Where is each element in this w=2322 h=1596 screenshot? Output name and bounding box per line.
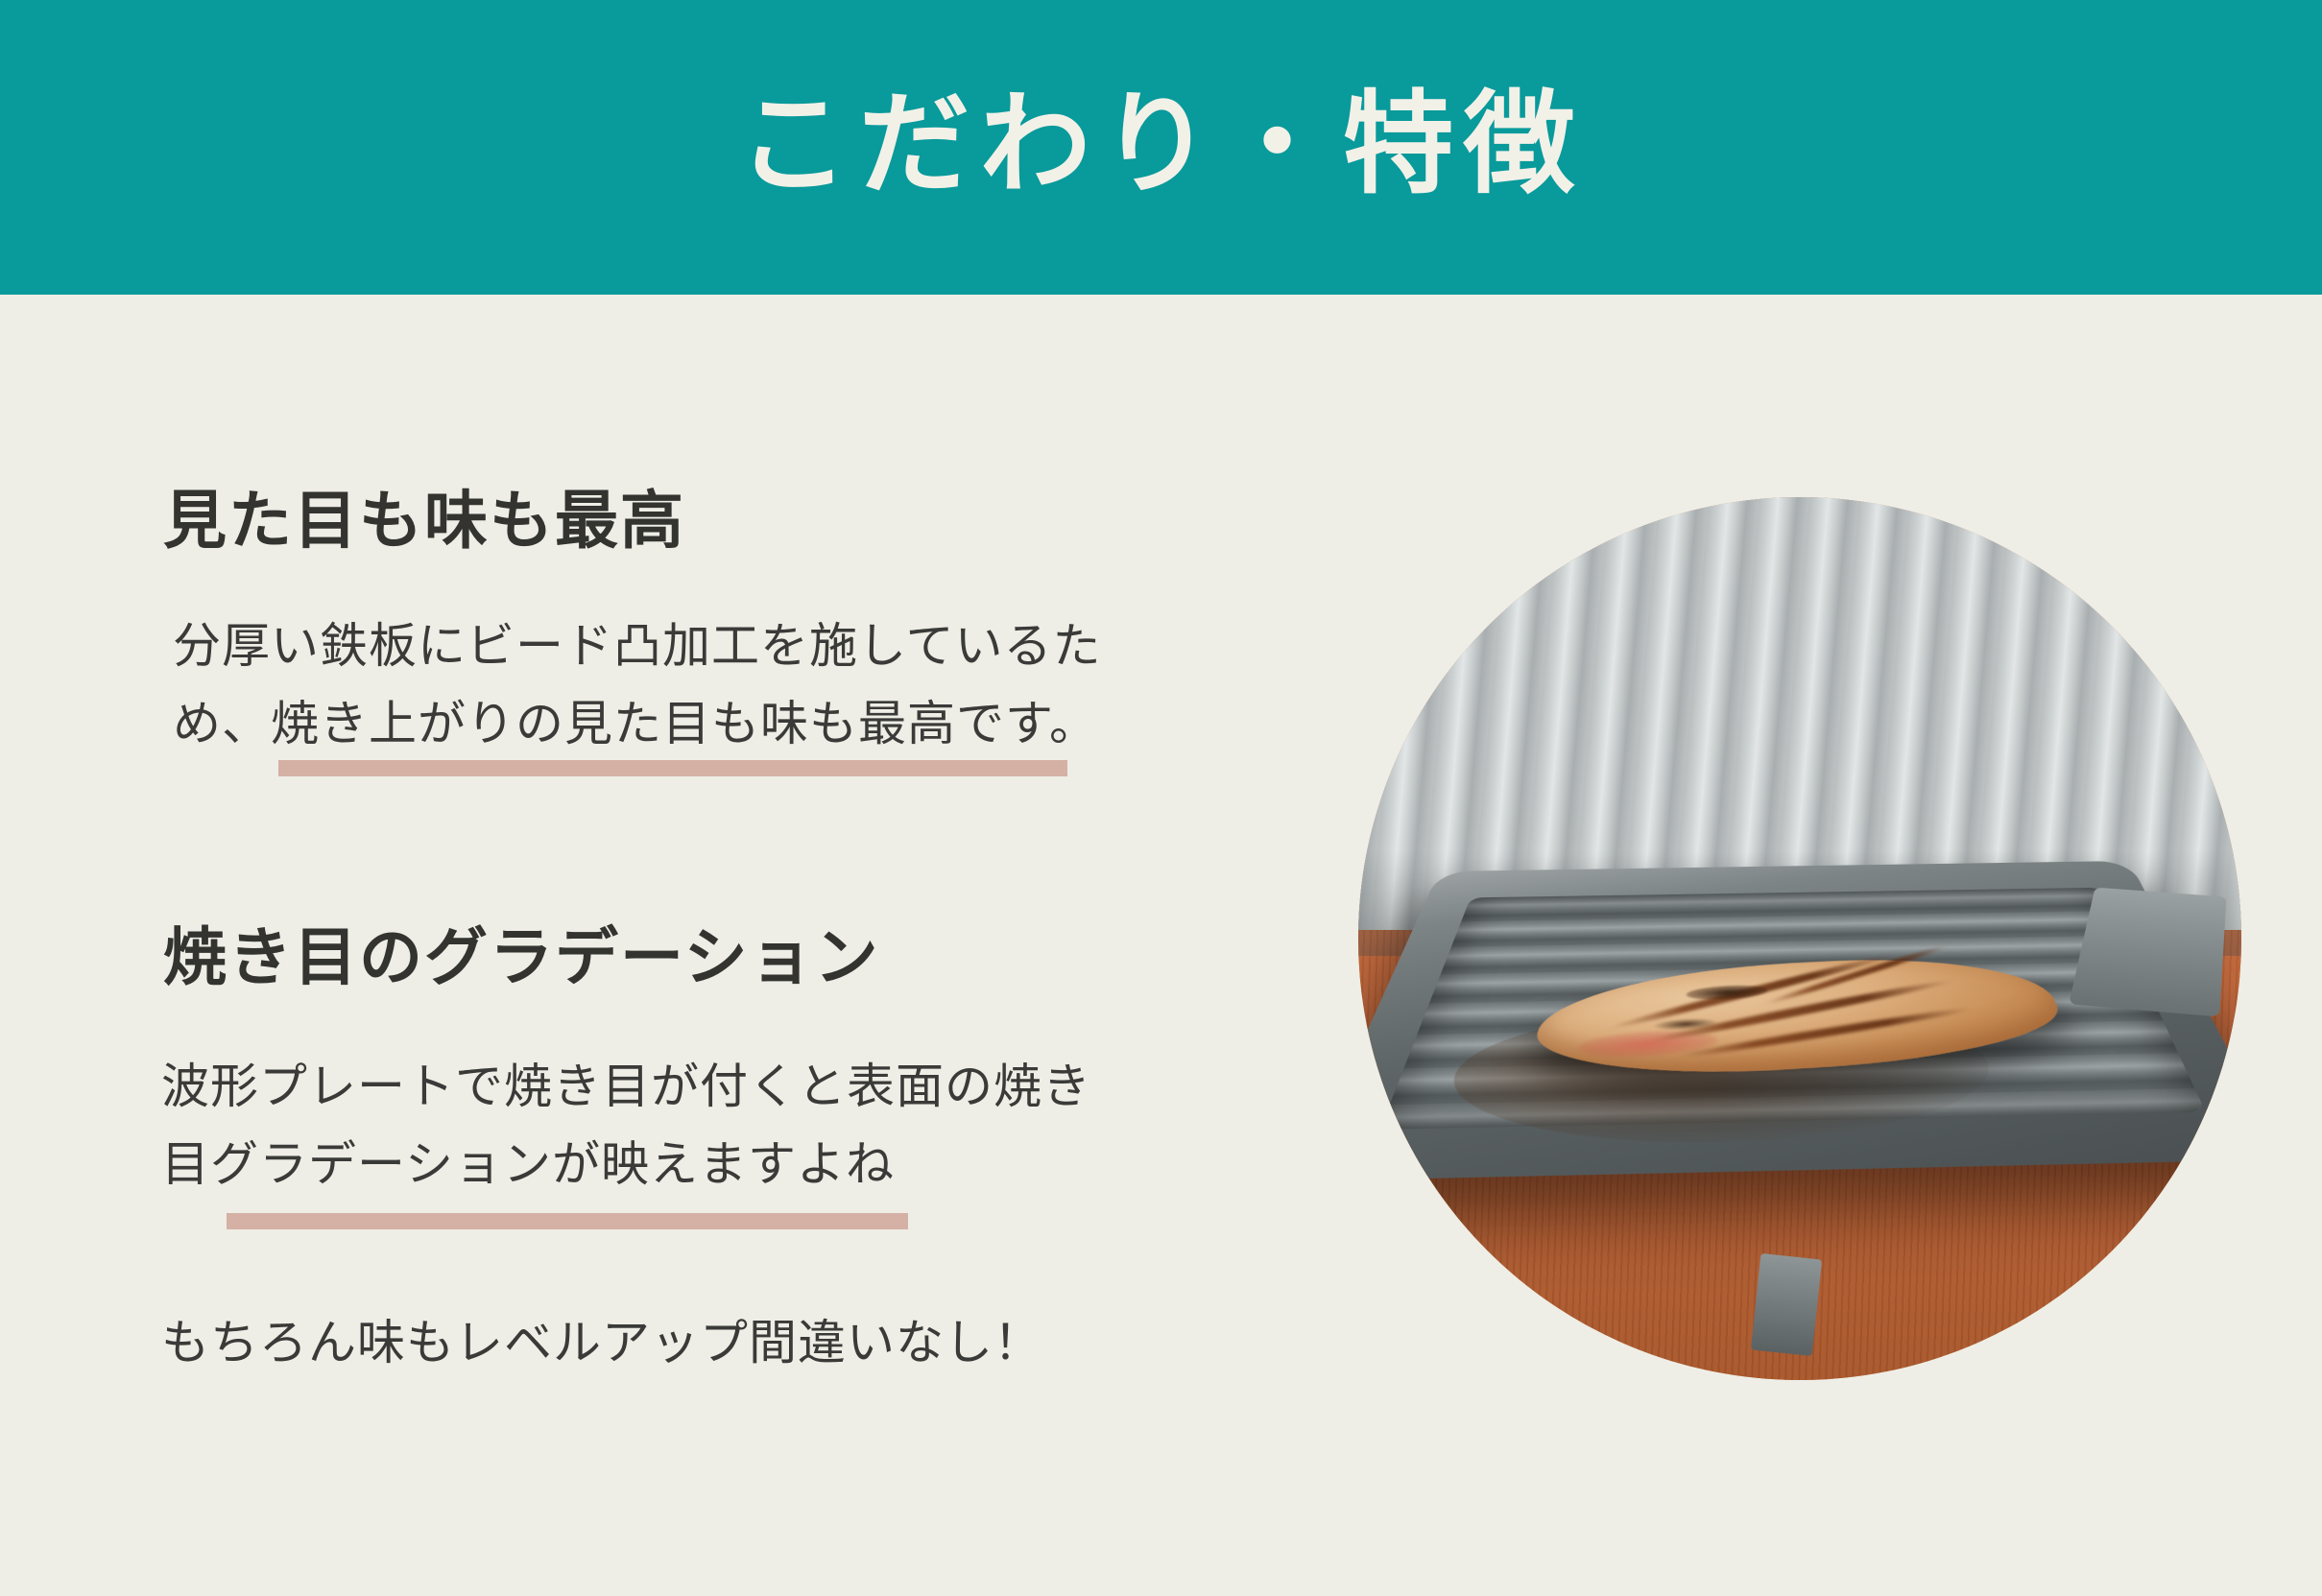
feature-block-3: もちろん味もレベルアップ間違いなし！	[161, 1304, 1169, 1382]
marker-underline-2	[227, 1213, 908, 1229]
grilled-meat-photo	[1358, 497, 2241, 1380]
marker-underline-1	[278, 760, 1067, 776]
feature-body-2: 波形プレートで焼き目が付くと表面の焼き目グラデーションが映えますよね	[161, 1048, 1131, 1203]
page-title: こだわり・特徴	[738, 89, 1585, 206]
feature-body-3: もちろん味もレベルアップ間違いなし！	[161, 1304, 1169, 1382]
feature-heading-2: 焼き目のグラデーション	[163, 918, 1131, 998]
slide-content: 見た目も味も最高 分厚い鉄板にビード凸加工を施しているため、焼き上がりの見た目も…	[0, 295, 2322, 1596]
photo-inner	[1358, 497, 2241, 1380]
feature-block-1: 見た目も味も最高 分厚い鉄板にビード凸加工を施しているため、焼き上がりの見た目も…	[161, 482, 1133, 763]
slide-header-band: こだわり・特徴	[0, 0, 2322, 295]
feature-block-2: 焼き目のグラデーション 波形プレートで焼き目が付くと表面の焼き目グラデーションが…	[161, 918, 1131, 1203]
char-spot	[1687, 984, 1768, 1001]
feature-heading-1: 見た目も味も最高	[163, 482, 1133, 561]
griddle-plate-leg	[1751, 1253, 1823, 1356]
feature-body-1: 分厚い鉄板にビード凸加工を施しているため、焼き上がりの見た目も味も最高です。	[173, 607, 1133, 763]
griddle-plate-handle	[2070, 888, 2227, 1017]
grill-mark	[1676, 1005, 1975, 1060]
